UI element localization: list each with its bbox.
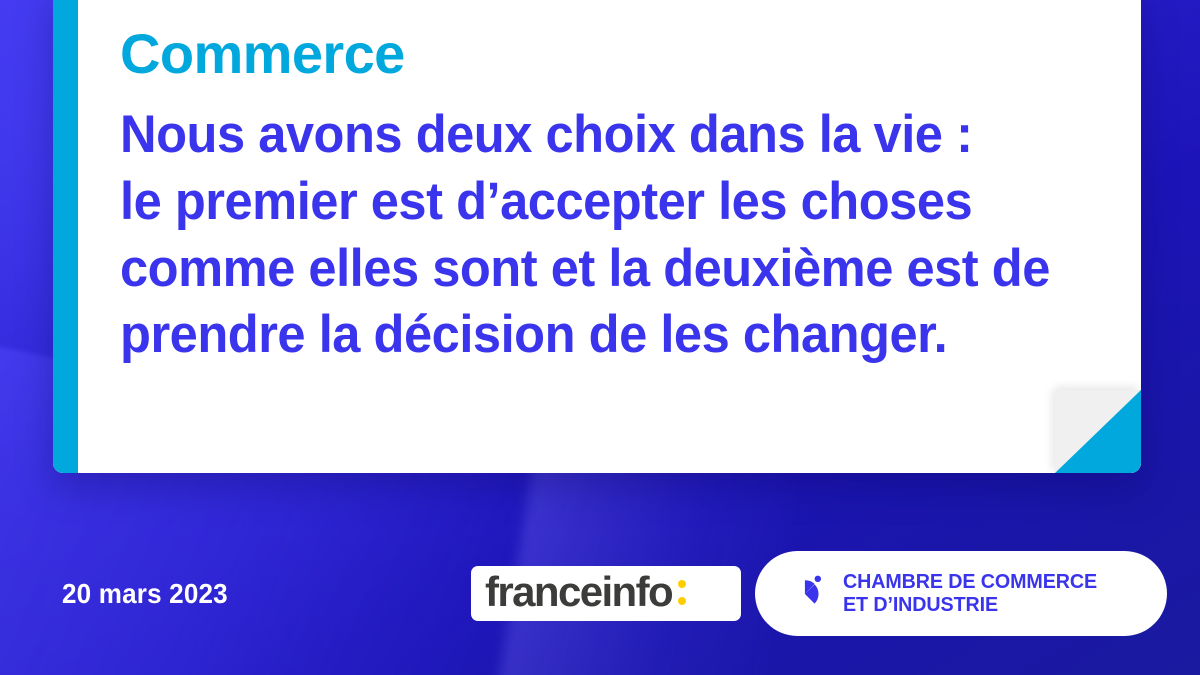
- quote-line: prendre la décision de les changer.: [120, 302, 1066, 369]
- franceinfo-logo: franceinfo: [471, 566, 741, 621]
- cci-line-1: CHAMBRE DE COMMERCE: [843, 571, 1097, 594]
- quote-card: Commerce Nous avons deux choix dans la v…: [53, 0, 1141, 473]
- cci-logo: CHAMBRE DE COMMERCE ET D’INDUSTRIE: [755, 551, 1167, 636]
- card-kicker: Commerce: [120, 26, 1111, 82]
- cci-line-2: ET D’INDUSTRIE: [843, 594, 1097, 617]
- quote-text: Nous avons deux choix dans la vie : le p…: [120, 102, 1066, 369]
- quote-line: le premier est d’accepter les choses: [120, 169, 1066, 236]
- cci-wordmark: CHAMBRE DE COMMERCE ET D’INDUSTRIE: [843, 571, 1097, 617]
- colon-dots-icon: [678, 580, 686, 605]
- publication-date: 20 mars 2023: [62, 578, 228, 610]
- social-quote-card: Commerce Nous avons deux choix dans la v…: [0, 0, 1200, 675]
- folded-corner-decoration: [1055, 390, 1141, 473]
- cci-c-mark-icon: [781, 571, 827, 617]
- franceinfo-wordmark: franceinfo: [485, 571, 672, 613]
- card-content: Commerce Nous avons deux choix dans la v…: [120, 0, 1111, 369]
- quote-line: Nous avons deux choix dans la vie :: [120, 102, 1066, 169]
- quote-line: comme elles sont et la deuxième est de: [120, 236, 1066, 303]
- card-accent-bar: [53, 0, 78, 473]
